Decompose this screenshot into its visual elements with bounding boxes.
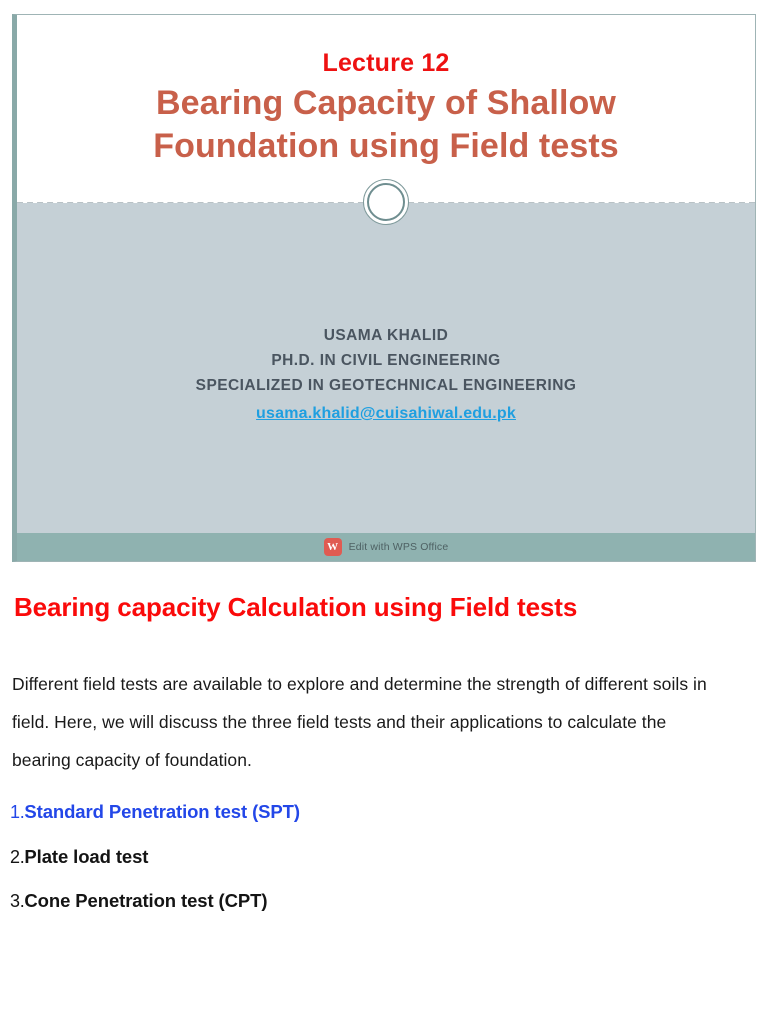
page-root: Lecture 12 Bearing Capacity of Shallow F… (0, 0, 768, 1024)
list-item-label[interactable]: Plate load test (24, 846, 148, 868)
slide-title-line-2: Foundation using Field tests (153, 127, 619, 165)
list-item[interactable]: 1. Standard Penetration test (SPT) (0, 801, 768, 824)
wps-watermark-label[interactable]: Edit with WPS Office (349, 541, 449, 553)
list-item-number: 3. (10, 891, 24, 913)
slide-body-panel: USAMA KHALID PH.D. IN CIVIL ENGINEERING … (17, 203, 755, 533)
presentation-slide: Lecture 12 Bearing Capacity of Shallow F… (12, 14, 756, 562)
slide-title: Bearing Capacity of Shallow Foundation u… (17, 82, 755, 168)
presenter-name: USAMA KHALID (17, 323, 755, 348)
list-item-label[interactable]: Cone Penetration test (CPT) (24, 890, 267, 912)
field-tests-list: 1. Standard Penetration test (SPT) 2. Pl… (0, 779, 768, 913)
circle-ring-icon (363, 179, 409, 225)
list-item-number: 1. (10, 802, 24, 824)
slide-title-area: Lecture 12 Bearing Capacity of Shallow F… (17, 15, 755, 202)
slide-title-line-1: Bearing Capacity of Shallow (156, 84, 616, 122)
presenter-email-link[interactable]: usama.khalid@cuisahiwal.edu.pk (256, 401, 516, 426)
list-item[interactable]: 2. Plate load test (0, 846, 768, 869)
list-item-label[interactable]: Standard Penetration test (SPT) (24, 801, 299, 823)
document-content: Bearing capacity Calculation using Field… (0, 578, 768, 935)
presenter-degree: PH.D. IN CIVIL ENGINEERING (17, 348, 755, 373)
presenter-info: USAMA KHALID PH.D. IN CIVIL ENGINEERING … (17, 323, 755, 426)
list-item-number: 2. (10, 847, 24, 869)
presenter-specialization: SPECIALIZED IN GEOTECHNICAL ENGINEERING (17, 373, 755, 398)
wps-office-logo-icon[interactable]: W (324, 538, 342, 556)
section-heading: Bearing capacity Calculation using Field… (0, 578, 768, 623)
list-item[interactable]: 3. Cone Penetration test (CPT) (0, 890, 768, 913)
lecture-number: Lecture 12 (17, 49, 755, 78)
title-block: Lecture 12 Bearing Capacity of Shallow F… (17, 49, 755, 168)
wps-watermark-bar[interactable]: W Edit with WPS Office (17, 533, 755, 561)
intro-paragraph: Different field tests are available to e… (0, 623, 768, 779)
